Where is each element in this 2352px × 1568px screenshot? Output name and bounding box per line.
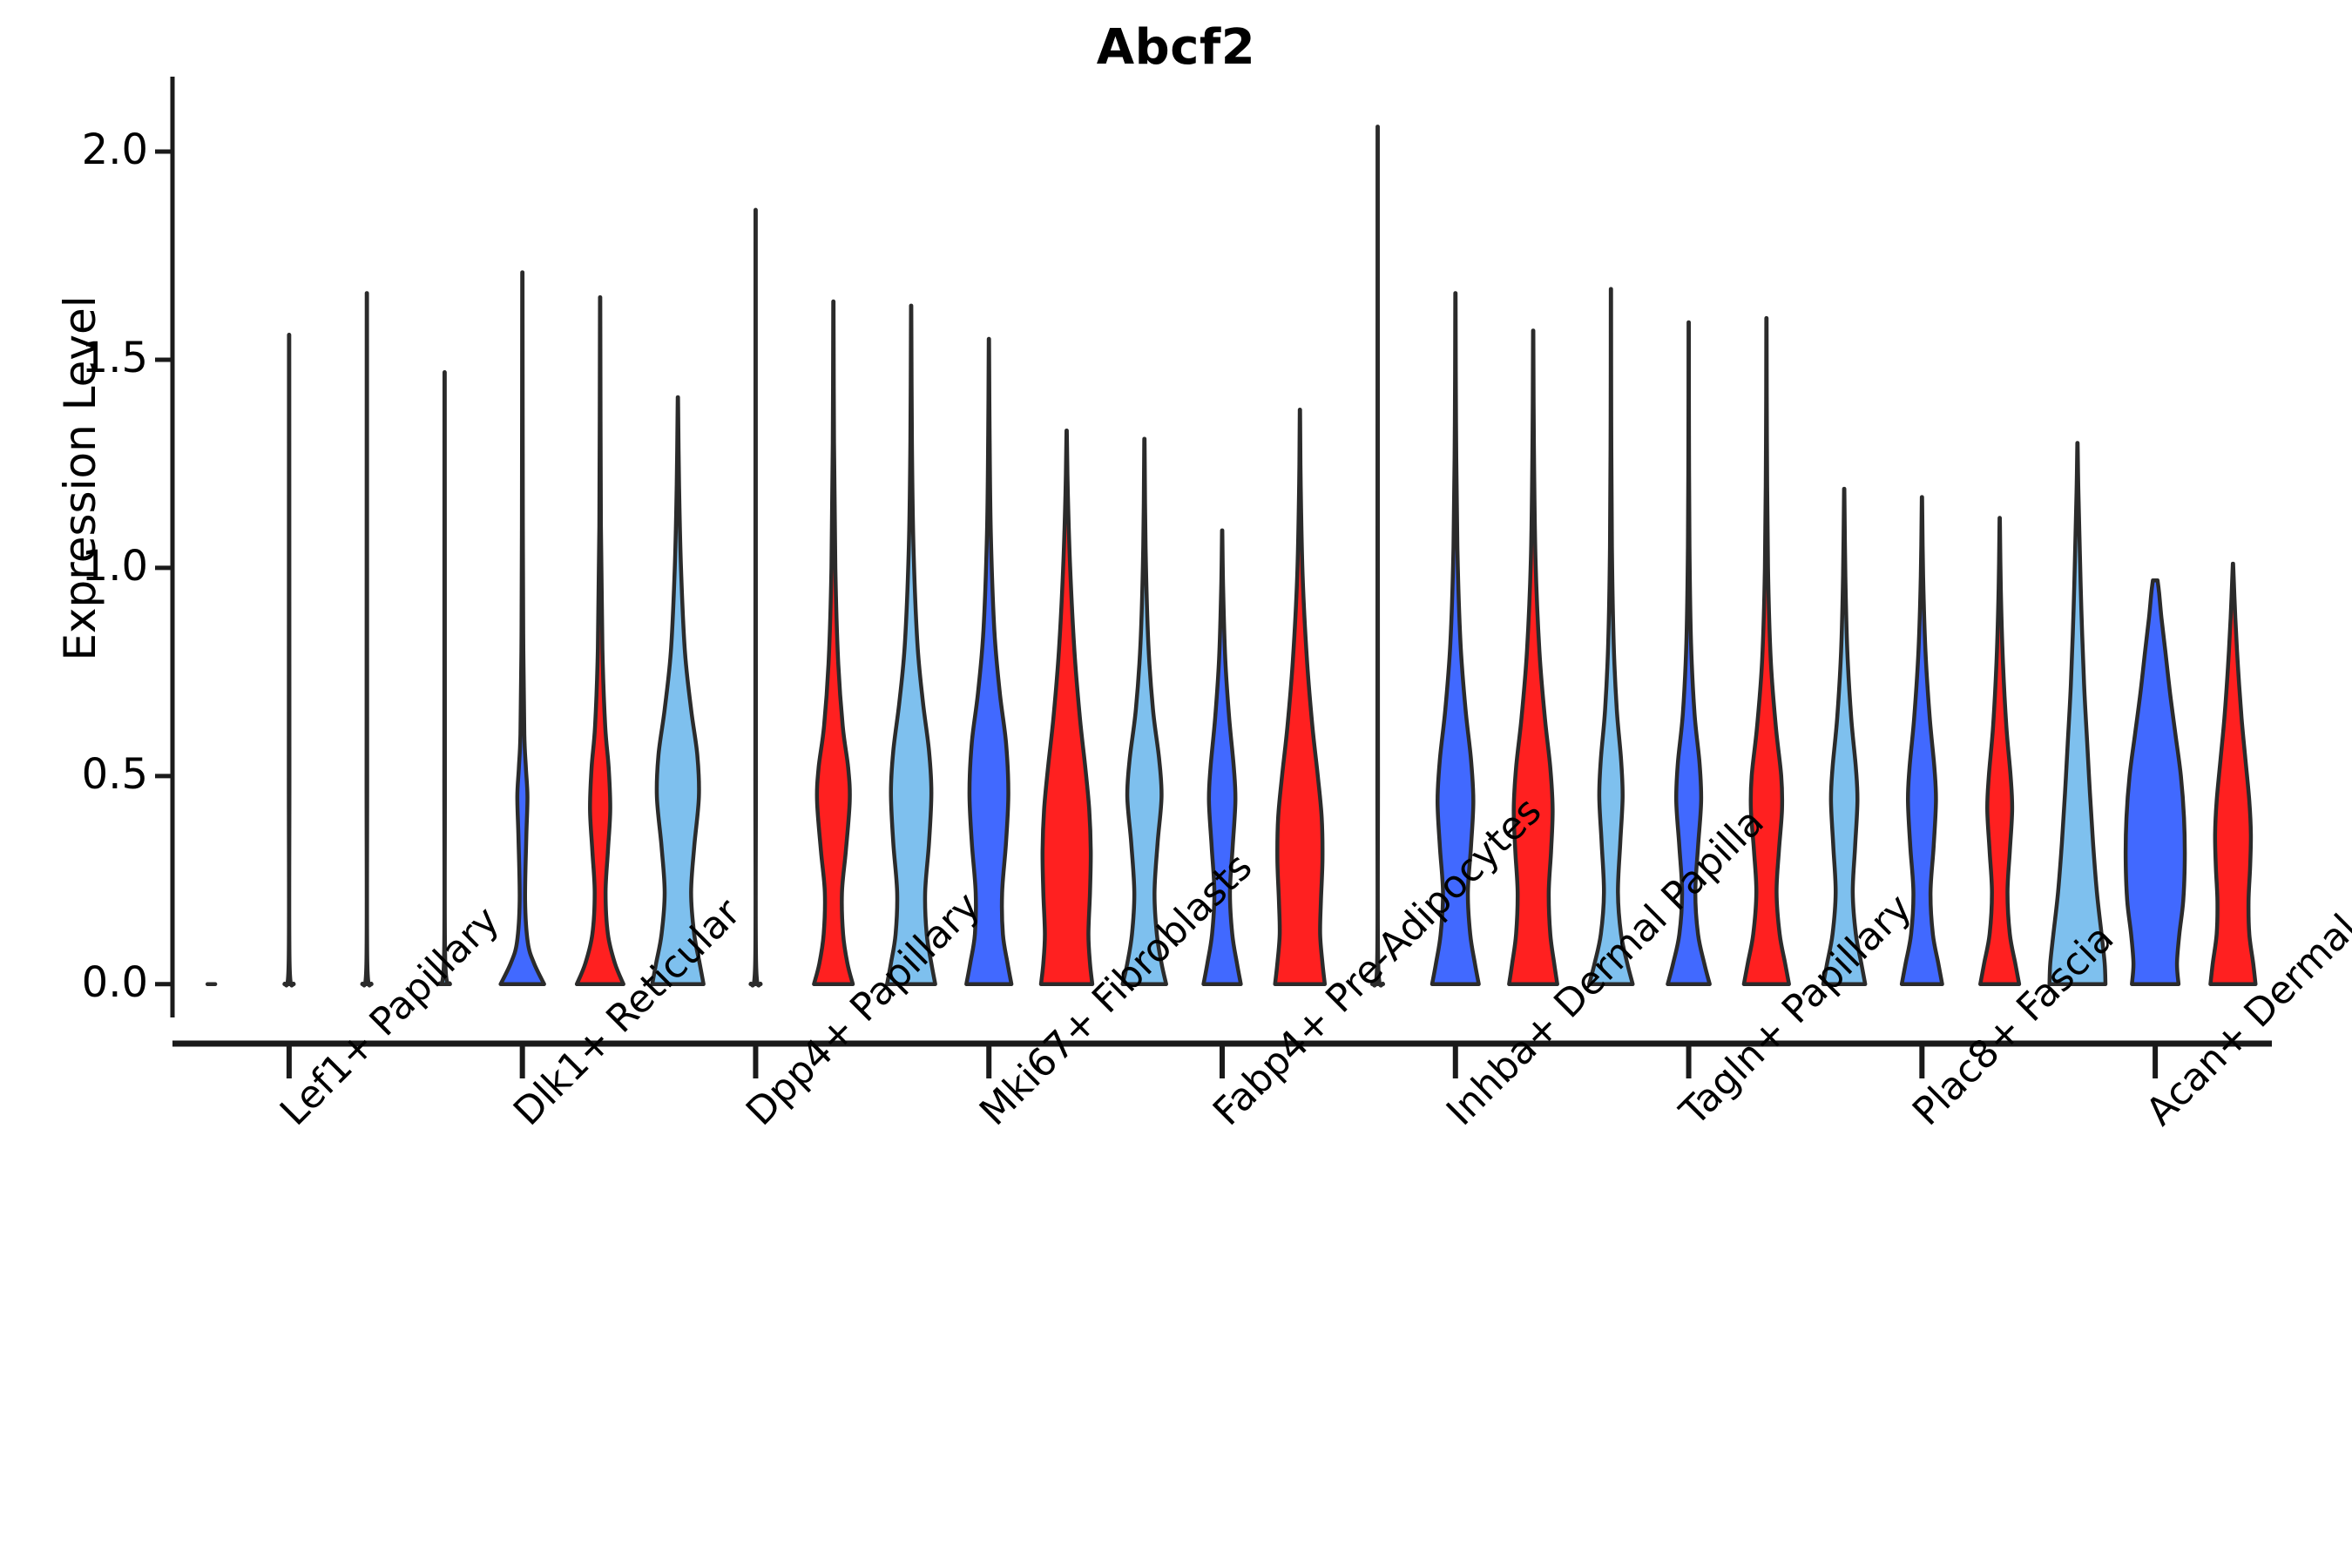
violin-blue <box>751 210 761 985</box>
violin-red <box>1509 331 1557 984</box>
violin-red <box>814 301 853 984</box>
violin-light_blue <box>439 372 449 983</box>
violin-red <box>577 297 624 984</box>
plot-canvas <box>0 0 2352 1568</box>
violin-light_blue <box>2050 443 2105 984</box>
violin-red <box>1275 409 1325 983</box>
violin-light_blue <box>1589 289 1632 984</box>
violin-red <box>1744 318 1789 984</box>
violin-red <box>1041 430 1092 984</box>
violin-light_blue <box>652 397 704 984</box>
violin-red <box>2210 564 2255 984</box>
violin-blue <box>966 339 1011 984</box>
violin-light_blue <box>1372 126 1383 985</box>
violin-blue <box>285 335 294 985</box>
violin-blue <box>2126 580 2185 984</box>
violin-red <box>1980 518 2019 984</box>
violin-light_blue <box>1123 439 1166 984</box>
violin-red <box>362 294 372 986</box>
violin-light_blue <box>1823 489 1865 984</box>
violin-light_blue <box>887 306 935 984</box>
violin-plot-figure: Abcf2 Expression Level 0.00.51.01.52.0 L… <box>0 0 2352 1568</box>
violin-blue <box>501 273 544 984</box>
